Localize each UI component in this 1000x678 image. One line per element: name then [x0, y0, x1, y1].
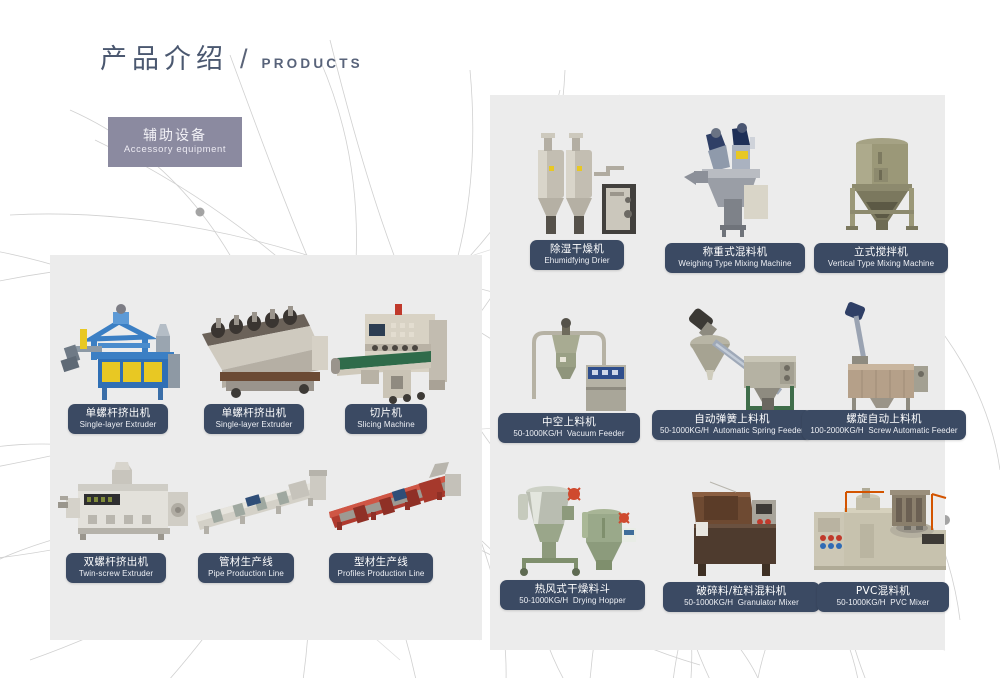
product-label-en: Weighing Type Mixing Machine	[678, 259, 791, 269]
product-label[interactable]: 中空上料机 50-1000KG/H Vacuum Feeder	[498, 413, 640, 443]
product-label-en: Single-layer Extruder	[80, 420, 157, 430]
product-drying-hopper[interactable]: 热风式干燥料斗 50-1000KG/H Drying Hopper	[512, 472, 642, 607]
product-label-cn: 型材生产线	[354, 556, 408, 569]
page-title-en: PRODUCTS	[262, 57, 363, 74]
product-label[interactable]: 双螺杆挤出机 Twin-screw Extruder	[66, 553, 166, 583]
spring-feeder-icon	[662, 298, 797, 410]
product-spec: 50-1000KG/H	[660, 426, 709, 435]
product-spec: 50-1000KG/H	[513, 429, 562, 438]
product-label-cn: 自动弹簧上料机	[694, 413, 770, 426]
product-label-en: 50-1000KG/H PVC Mixer	[837, 598, 930, 608]
product-label-cn: 切片机	[370, 407, 402, 420]
catalog-page: 产品介绍 / PRODUCTS 辅助设备 Accessory equipment	[0, 0, 1000, 678]
screw-feeder-icon	[818, 298, 948, 410]
page-title-cn: 产品介绍	[100, 46, 228, 73]
product-label-en: Pipe Production Line	[208, 569, 284, 579]
vertical-silo-mixer-icon	[832, 122, 932, 242]
roller-conveyor-machine-icon	[192, 296, 337, 406]
weighing-mixer-icon	[680, 115, 790, 243]
product-label[interactable]: 型材生产线 Profiles Production Line	[329, 553, 433, 583]
product-label-en: 50-1000KG/H Drying Hopper	[519, 596, 625, 606]
product-label-en: Profiles Production Line	[338, 569, 425, 579]
product-spec: 50-1000KG/H	[519, 596, 568, 605]
accessory-badge-label-cn: 辅助设备	[143, 129, 207, 143]
product-dehumidifying-drier[interactable]: 除湿干燥机 Ehumidfying Drier	[516, 128, 656, 268]
product-label-cn: 单螺杆挤出机	[86, 407, 151, 420]
product-label[interactable]: 自动弹簧上料机 50-1000KG/H Automatic Spring Fee…	[652, 410, 812, 440]
product-label-en: Vertical Type Mixing Machine	[828, 259, 934, 269]
product-pvc-mixer[interactable]: PVC混料机 50-1000KG/H PVC Mixer	[812, 478, 952, 608]
product-label-cn: 单螺杆挤出机	[222, 407, 287, 420]
product-spec: 50-1000KG/H	[684, 598, 733, 607]
product-label[interactable]: 单螺杆挤出机 Single-layer Extruder	[68, 404, 168, 434]
twin-screw-extruder-icon	[58, 460, 198, 555]
product-automatic-spring-feeder[interactable]: 自动弹簧上料机 50-1000KG/H Automatic Spring Fee…	[662, 298, 797, 443]
product-label-cn: 除湿干燥机	[550, 243, 604, 256]
accessory-equipment-badge: 辅助设备 Accessory equipment	[108, 117, 242, 167]
product-label-cn: 双螺杆挤出机	[84, 556, 149, 569]
product-granulator-mixer[interactable]: 破碎料/粒料混料机 50-1000KG/H Granulator Mixer	[680, 478, 800, 608]
product-label-en: Twin-screw Extruder	[79, 569, 153, 579]
product-single-layer-extruder-1[interactable]: 单螺杆挤出机 Single-layer Extruder	[58, 296, 198, 436]
product-label-cn: PVC混料机	[856, 585, 910, 598]
product-label-cn: 管材生产线	[219, 556, 273, 569]
slicing-machine-icon	[325, 296, 465, 406]
product-label-en-text: Vacuum Feeder	[567, 429, 625, 438]
product-label[interactable]: 切片机 Slicing Machine	[345, 404, 427, 434]
accessory-badge-label-en: Accessory equipment	[124, 145, 226, 155]
product-label-en: Slicing Machine	[357, 420, 415, 430]
product-vacuum-feeder[interactable]: 中空上料机 50-1000KG/H Vacuum Feeder	[518, 303, 643, 443]
product-vertical-mixing-machine[interactable]: 立式搅拌机 Vertical Type Mixing Machine	[832, 122, 932, 270]
product-label-cn: 立式搅拌机	[854, 246, 908, 259]
product-weighing-mixing-machine[interactable]: 称重式混料机 Weighing Type Mixing Machine	[680, 115, 790, 270]
product-label-cn: 螺旋自动上料机	[846, 413, 922, 426]
product-label-en-text: Automatic Spring Feeder	[713, 426, 804, 435]
title-separator: /	[240, 46, 248, 73]
product-label[interactable]: 立式搅拌机 Vertical Type Mixing Machine	[814, 243, 948, 273]
product-label-en-text: Screw Automatic Feeder	[868, 426, 957, 435]
product-label[interactable]: 破碎料/粒料混料机 50-1000KG/H Granulator Mixer	[663, 582, 820, 612]
product-label[interactable]: 除湿干燥机 Ehumidfying Drier	[530, 240, 624, 270]
product-label-en-text: PVC Mixer	[890, 598, 929, 607]
product-label-en-text: Drying Hopper	[573, 596, 626, 605]
product-label-cn: 称重式混料机	[703, 246, 768, 259]
product-label-en: 100-2000KG/H Screw Automatic Feeder	[810, 426, 957, 436]
product-label-en-text: Granulator Mixer	[738, 598, 799, 607]
red-profile-line-icon	[325, 460, 470, 555]
product-single-layer-extruder-2[interactable]: 单螺杆挤出机 Single-layer Extruder	[192, 296, 337, 436]
pipe-line-icon	[190, 460, 335, 555]
product-profiles-production-line[interactable]: 型材生产线 Profiles Production Line	[325, 460, 470, 585]
product-label-en: 50-1000KG/H Automatic Spring Feeder	[660, 426, 804, 436]
vacuum-feeder-icon	[518, 303, 643, 411]
drying-hopper-icon	[512, 472, 642, 580]
product-label-cn: 中空上料机	[542, 416, 596, 429]
product-spec: 50-1000KG/H	[837, 598, 886, 607]
product-label[interactable]: 螺旋自动上料机 100-2000KG/H Screw Automatic Fee…	[802, 410, 966, 440]
product-label-en: Single-layer Extruder	[216, 420, 293, 430]
product-label-en: Ehumidfying Drier	[544, 256, 609, 266]
product-label-cn: 热风式干燥料斗	[535, 583, 611, 596]
twin-hopper-drier-icon	[516, 128, 656, 238]
product-slicing-machine[interactable]: 切片机 Slicing Machine	[325, 296, 465, 436]
pvc-mixer-unit-icon	[812, 478, 952, 580]
product-label-cn: 破碎料/粒料混料机	[696, 585, 786, 598]
product-screw-automatic-feeder[interactable]: 螺旋自动上料机 100-2000KG/H Screw Automatic Fee…	[818, 298, 948, 443]
product-pipe-production-line[interactable]: 管材生产线 Pipe Production Line	[190, 460, 335, 585]
product-label[interactable]: 热风式干燥料斗 50-1000KG/H Drying Hopper	[500, 580, 645, 610]
product-label[interactable]: 单螺杆挤出机 Single-layer Extruder	[204, 404, 304, 434]
product-twin-screw-extruder[interactable]: 双螺杆挤出机 Twin-screw Extruder	[58, 460, 198, 585]
page-title: 产品介绍 / PRODUCTS	[100, 46, 363, 73]
product-label-en: 50-1000KG/H Vacuum Feeder	[513, 429, 624, 439]
product-label[interactable]: PVC混料机 50-1000KG/H PVC Mixer	[817, 582, 949, 612]
granulator-mixer-icon	[680, 478, 800, 580]
product-spec: 100-2000KG/H	[810, 426, 863, 435]
blue-yellow-extruder-icon	[58, 296, 198, 406]
product-label-en: 50-1000KG/H Granulator Mixer	[684, 598, 799, 608]
product-label[interactable]: 称重式混料机 Weighing Type Mixing Machine	[665, 243, 805, 273]
product-label[interactable]: 管材生产线 Pipe Production Line	[198, 553, 294, 583]
